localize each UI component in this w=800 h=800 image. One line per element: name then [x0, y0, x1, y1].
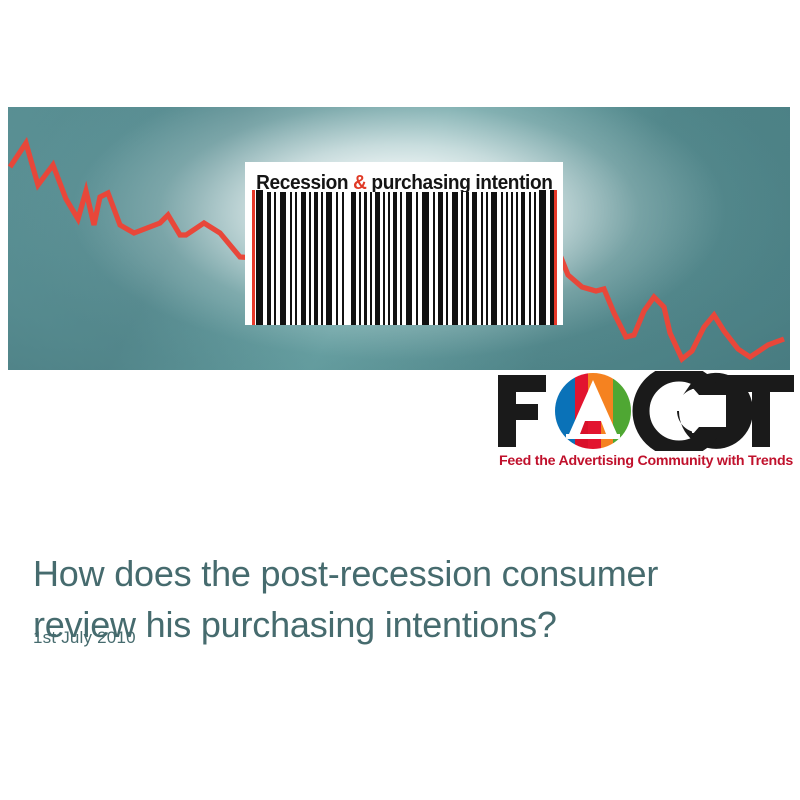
barcode-title-part1: Recession	[256, 171, 353, 194]
barcode-title-part2: purchasing intention	[366, 171, 552, 194]
barcode-guard-right-2	[550, 190, 554, 325]
barcode-guard-right-1	[539, 190, 546, 325]
slide-date: 1st July 2010	[33, 628, 136, 648]
fact-logo-tagline: Feed the Advertising Community with Tren…	[496, 453, 796, 469]
title-slide: Recession & purchasing intention	[0, 0, 800, 800]
page-title: How does the post-recession consumer rev…	[33, 548, 753, 650]
hero-banner: Recession & purchasing intention	[8, 107, 790, 370]
fact-logo-mark	[496, 371, 796, 451]
barcode-right-edge-line	[554, 190, 557, 325]
logo-letter-a	[555, 373, 633, 449]
barcode-title-ampersand: &	[353, 171, 366, 194]
logo-letter-f	[498, 375, 546, 447]
fact-logo: Feed the Advertising Community with Tren…	[496, 371, 796, 476]
barcode-guard-left	[256, 190, 263, 325]
barcode-bars	[245, 192, 563, 325]
barcode-left-edge-line	[252, 190, 255, 325]
barcode-graphic: Recession & purchasing intention	[245, 162, 563, 352]
